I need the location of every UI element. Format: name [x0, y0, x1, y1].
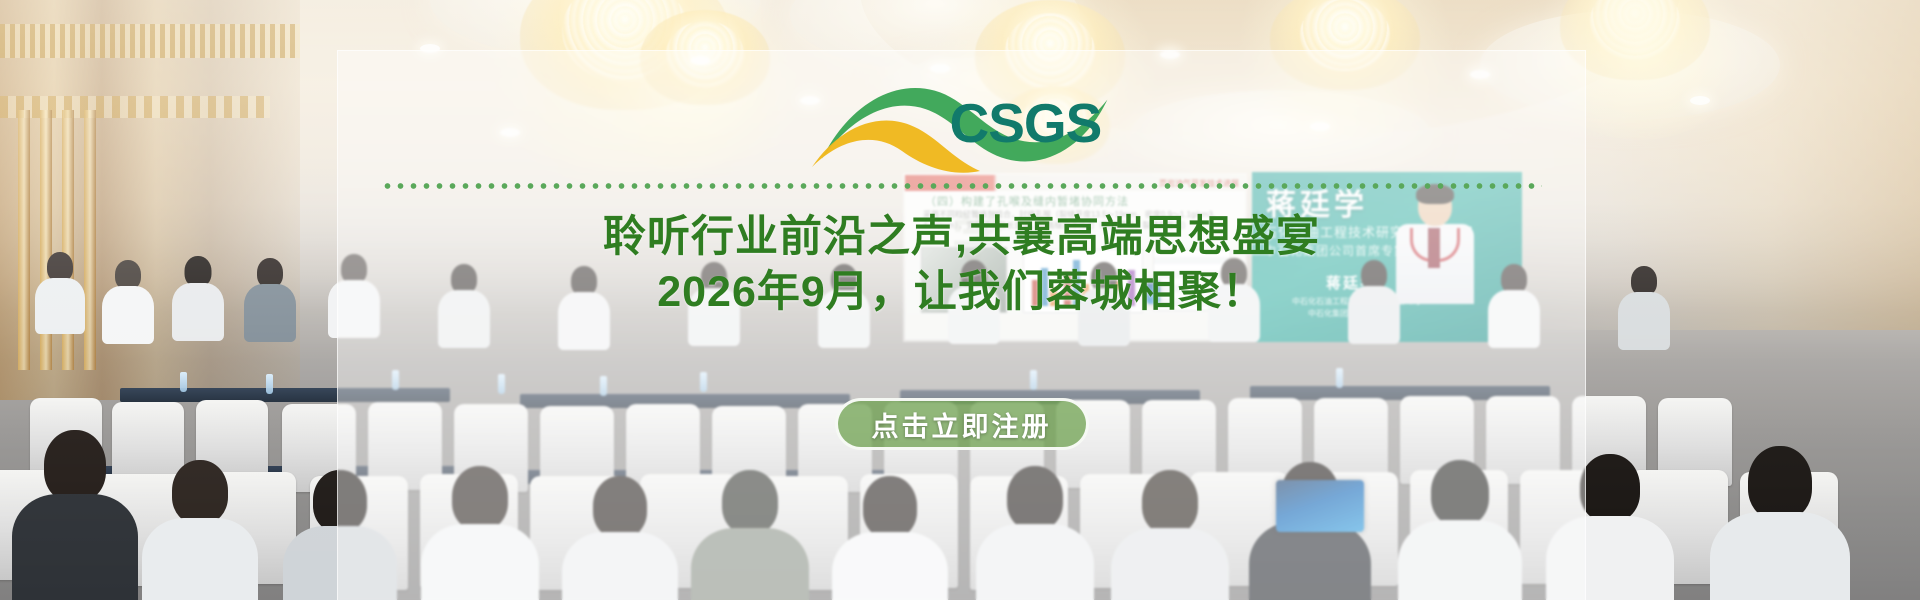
person-body: [102, 286, 154, 344]
person-body: [1618, 292, 1670, 350]
ceiling-spotlight: [1690, 96, 1710, 105]
audience-person: [1620, 266, 1668, 346]
audience-person-front: [1720, 446, 1840, 600]
water-bottle: [266, 374, 273, 394]
person-body: [1710, 512, 1850, 600]
logo-block: CSGS: [337, 66, 1586, 176]
headline-block: 聆听行业前沿之声,共襄高端思想盛宴 2026年9月，让我们蓉城相聚！: [337, 210, 1586, 320]
audience-person: [174, 256, 222, 336]
person-head: [172, 460, 228, 524]
headline-line-1: 聆听行业前沿之声,共襄高端思想盛宴: [337, 210, 1586, 265]
headline-line-2: 2026年9月，让我们蓉城相聚！: [337, 265, 1586, 320]
person-body: [35, 278, 85, 334]
person-body: [244, 284, 296, 342]
person-head: [44, 430, 106, 502]
audience-person: [104, 260, 152, 340]
audience-person-front: [20, 430, 130, 600]
csgs-logo: CSGS: [802, 67, 1122, 175]
register-now-button[interactable]: 点击立即注册: [835, 398, 1089, 450]
audience-person: [246, 258, 294, 338]
csgs-wordmark: CSGS: [950, 91, 1102, 155]
banner-content: CSGS 聆听行业前沿之声,共襄高端思想盛宴 2026年9月，让我们蓉城相聚！ …: [337, 50, 1586, 600]
left-cornice-upper: [0, 24, 300, 58]
water-bottle: [180, 372, 187, 392]
person-head: [1580, 454, 1640, 522]
person-body: [142, 518, 258, 600]
cta-block: 点击立即注册: [337, 398, 1586, 450]
person-body: [12, 494, 138, 600]
audience-person: [36, 252, 84, 332]
person-head: [1748, 446, 1812, 520]
dotted-divider: [381, 182, 1542, 190]
conference-hero-banner: 页岩油气开发技术进展 （四）构建了孔喉及缝内暂堵协同方法 采用不同粒径暂堵剂组合…: [0, 0, 1920, 600]
person-body: [172, 283, 224, 341]
audience-person-front: [150, 460, 250, 600]
